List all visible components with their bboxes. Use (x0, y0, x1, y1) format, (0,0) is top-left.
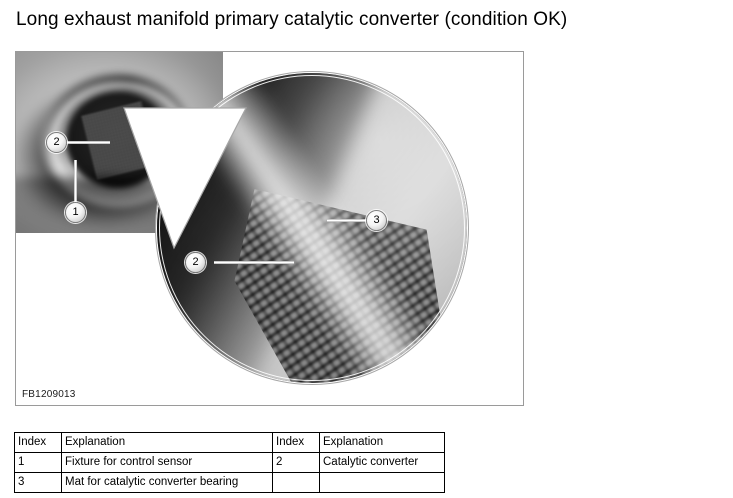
callout-bubble-1-photo[interactable]: 1 (65, 202, 86, 223)
legend-cell-index-1-row-2: 3 (15, 473, 62, 493)
figure-panel: 2 1 2 3 FB1209013 (15, 51, 524, 406)
callout-bubble-2-photo[interactable]: 2 (46, 132, 67, 153)
legend-cell-explanation-2-row-2 (320, 473, 445, 493)
leader-line-callout-2-photo (66, 141, 110, 144)
legend-header-row: Index Explanation Index Explanation (15, 433, 445, 453)
leader-line-callout-2-magnifier (214, 261, 294, 264)
callout-bubble-1-photo-label: 1 (72, 207, 78, 218)
callout-bubble-2-photo-label: 2 (53, 137, 59, 148)
leader-line-callout-1-photo (74, 160, 77, 206)
callout-bubble-3-magnifier-label: 3 (373, 215, 379, 226)
callout-bubble-2-magnifier[interactable]: 2 (185, 252, 206, 273)
legend-cell-explanation-2-row-1: Catalytic converter (320, 453, 445, 473)
legend-table: Index Explanation Index Explanation 1 Fi… (14, 432, 445, 493)
legend-header-explanation-1: Explanation (62, 433, 273, 453)
page-title: Long exhaust manifold primary catalytic … (16, 8, 567, 32)
table-row: 1 Fixture for control sensor 2 Catalytic… (15, 453, 445, 473)
magnifier-content (157, 73, 467, 383)
legend-cell-index-2-row-2 (273, 473, 320, 493)
leader-line-callout-3-magnifier (327, 219, 370, 222)
callout-bubble-2-magnifier-label: 2 (192, 257, 198, 268)
magnifier-circle (156, 72, 468, 384)
legend-cell-index-1-row-1: 1 (15, 453, 62, 473)
legend-header-index-1: Index (15, 433, 62, 453)
legend-cell-explanation-1-row-2: Mat for catalytic converter bearing (62, 473, 273, 493)
table-row: 3 Mat for catalytic converter bearing (15, 473, 445, 493)
figure-id-label: FB1209013 (22, 389, 76, 400)
legend-header-index-2: Index (273, 433, 320, 453)
callout-bubble-3-magnifier[interactable]: 3 (366, 210, 387, 231)
magnifier-inner-rim (159, 75, 465, 381)
legend-header-explanation-2: Explanation (320, 433, 445, 453)
legend-cell-explanation-1-row-1: Fixture for control sensor (62, 453, 273, 473)
legend-cell-index-2-row-1: 2 (273, 453, 320, 473)
